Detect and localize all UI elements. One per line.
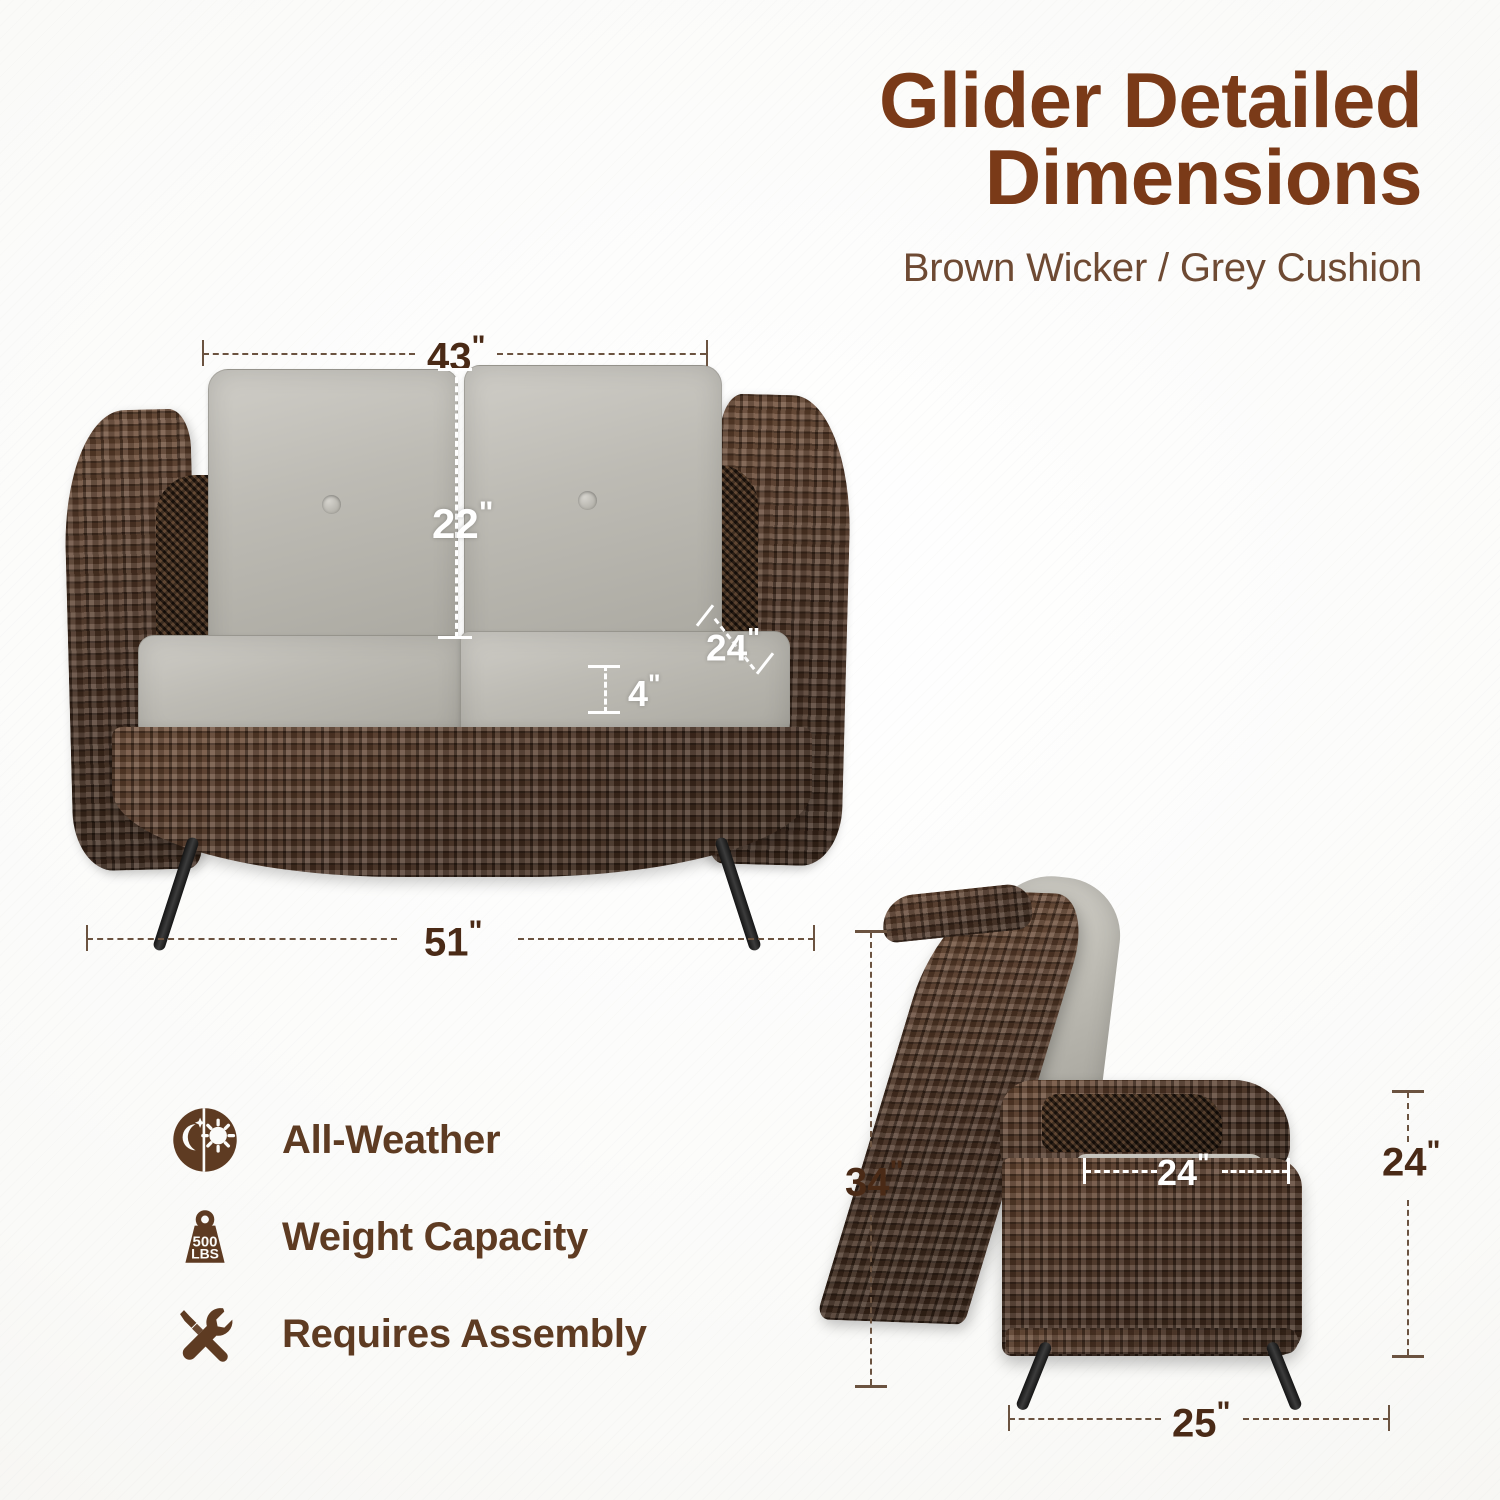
dimension-label-25in: 25" bbox=[1172, 1396, 1230, 1446]
dim-cap-bottom-4in bbox=[588, 711, 620, 714]
dim-cap-bottom-24in-right bbox=[1392, 1355, 1424, 1358]
dim-line-left-51in bbox=[87, 938, 397, 940]
page-subtitle: Brown Wicker / Grey Cushion bbox=[879, 246, 1422, 291]
wrench-screwdriver-icon bbox=[168, 1297, 242, 1371]
sofa-back-cushion-left bbox=[208, 369, 458, 669]
page-title-line-1: Glider Detailed bbox=[879, 62, 1422, 139]
dimension-label-24in-seat-height: 24" bbox=[1382, 1135, 1440, 1185]
dim-cap-right bbox=[706, 340, 708, 366]
dim-cap-bottom-34in bbox=[855, 1385, 887, 1388]
dim-line-right-25in bbox=[1243, 1418, 1389, 1420]
svg-text:LBS: LBS bbox=[191, 1246, 219, 1262]
weight-500lbs-icon: 500 LBS bbox=[168, 1200, 242, 1274]
dim-cap-top-22in bbox=[438, 368, 472, 371]
dimension-label-51in: 51" bbox=[424, 915, 482, 965]
dim-cap-top-4in bbox=[588, 665, 620, 668]
tuft-button-left bbox=[322, 495, 341, 514]
page-title-line-2: Dimensions bbox=[879, 139, 1422, 216]
feature-label-all-weather: All-Weather bbox=[282, 1118, 500, 1163]
header: Glider Detailed Dimensions Brown Wicker … bbox=[879, 62, 1422, 291]
dim-line-bottom-34in bbox=[870, 1215, 872, 1385]
dimension-label-34in: 34" bbox=[845, 1155, 903, 1205]
dim-line-right bbox=[497, 353, 706, 355]
dimension-label-4in: 4" bbox=[628, 669, 660, 715]
feature-item-requires-assembly: Requires Assembly bbox=[168, 1286, 728, 1382]
glider-side-view-illustration bbox=[880, 870, 1400, 1410]
dim-line-top-34in bbox=[870, 932, 872, 1147]
dim-line-left-25in bbox=[1009, 1418, 1161, 1420]
feature-item-all-weather: All-Weather bbox=[168, 1092, 728, 1188]
sun-moon-icon bbox=[168, 1103, 242, 1177]
dim-line-bottom-24in-right bbox=[1407, 1200, 1409, 1355]
chair-arm-inner-panel bbox=[1042, 1094, 1222, 1152]
dimension-label-24in-seat-depth: 24" bbox=[706, 622, 759, 669]
dim-line-right-24in-side bbox=[1222, 1170, 1288, 1173]
dim-line-left bbox=[203, 353, 415, 355]
dim-line-right-51in bbox=[518, 938, 814, 940]
dimension-label-22in: 22" bbox=[432, 495, 492, 548]
feature-label-requires-assembly: Requires Assembly bbox=[282, 1312, 647, 1357]
feature-item-weight-capacity: 500 LBS Weight Capacity bbox=[168, 1189, 728, 1285]
dim-cap-bottom-22in bbox=[438, 636, 472, 639]
sofa-front-apron bbox=[112, 727, 812, 877]
sofa-back-cushion-right bbox=[464, 365, 722, 667]
feature-list: All-Weather 500 LBS Weight Capacity bbox=[168, 1092, 728, 1383]
dim-line-left-24in-side bbox=[1085, 1170, 1157, 1173]
dimension-label-24in-side-depth: 24" bbox=[1157, 1148, 1209, 1194]
tuft-button-right bbox=[578, 491, 597, 510]
feature-label-weight-capacity: Weight Capacity bbox=[282, 1215, 588, 1260]
dim-line-4in bbox=[604, 665, 607, 713]
chair-side-body bbox=[1002, 1158, 1302, 1356]
